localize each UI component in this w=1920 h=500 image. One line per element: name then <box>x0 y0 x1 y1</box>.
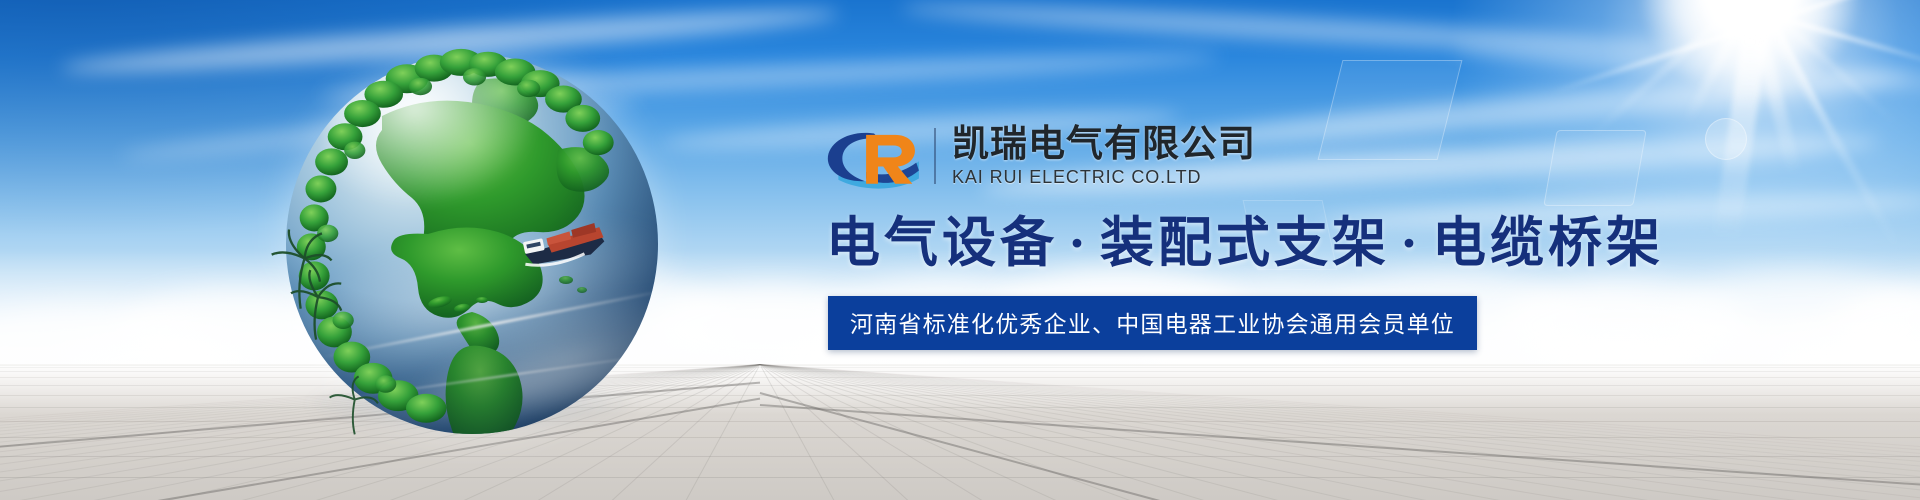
company-name-block: 凯瑞电气有限公司 KAI RUI ELECTRIC CO.LTD <box>952 124 1256 188</box>
headline-separator: · <box>1400 213 1422 273</box>
cr-monogram-logo-icon[interactable] <box>826 123 926 189</box>
company-name-en: KAI RUI ELECTRIC CO.LTD <box>952 167 1256 188</box>
logo-lockup[interactable]: 凯瑞电气有限公司 KAI RUI ELECTRIC CO.LTD <box>826 118 1566 194</box>
earth-globe-graphic <box>262 44 676 458</box>
hero-banner: 凯瑞电气有限公司 KAI RUI ELECTRIC CO.LTD 电气设备·装配… <box>0 0 1920 500</box>
banner-content: 凯瑞电气有限公司 KAI RUI ELECTRIC CO.LTD 电气设备·装配… <box>826 118 1566 350</box>
credentials-badge: 河南省标准化优秀企业、中国电器工业协会通用会员单位 <box>828 296 1477 350</box>
page-title: 电气设备·装配式支架·电缆桥架 <box>826 212 1566 274</box>
lens-flare-orb <box>1705 118 1747 160</box>
headline-part-2: 装配式支架 <box>1100 213 1390 273</box>
company-name-cn: 凯瑞电气有限公司 <box>952 124 1256 163</box>
headline-separator: · <box>1068 213 1090 273</box>
headline-part-1: 电气设备 <box>826 213 1058 273</box>
logo-divider <box>934 128 936 184</box>
headline-part-3: 电缆桥架 <box>1432 213 1664 273</box>
